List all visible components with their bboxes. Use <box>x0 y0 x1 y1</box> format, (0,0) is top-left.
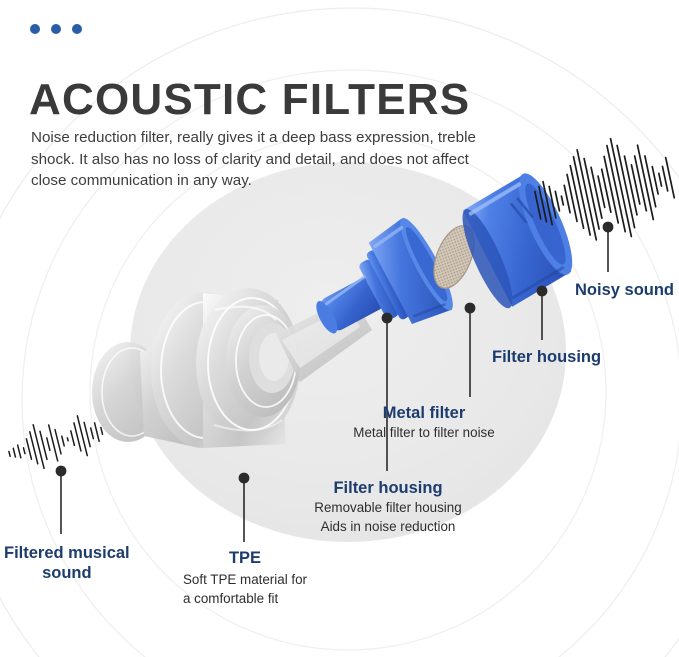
callout-filtered-musical-sound-title-line2: sound <box>4 563 130 583</box>
page-subtitle: Noise reduction filter, really gives it … <box>31 127 501 192</box>
callout-tpe-desc-line1: Soft TPE material for <box>183 571 307 589</box>
text-layer: ACOUSTIC FILTERS Noise reduction filter,… <box>0 0 679 657</box>
callout-metal-filter-desc: Metal filter to filter noise <box>353 424 494 442</box>
callout-filter-housing-center-desc-line1: Removable filter housing <box>314 499 461 517</box>
callout-filter-housing-center-desc-line2: Aids in noise reduction <box>314 518 461 536</box>
callout-metal-filter: Metal filter Metal filter to filter nois… <box>353 403 494 442</box>
callout-metal-filter-title: Metal filter <box>353 403 494 423</box>
dot-2 <box>51 24 61 34</box>
callout-filter-housing-center: Filter housing Removable filter housing … <box>314 478 461 536</box>
callout-tpe-desc-line2: a comfortable fit <box>183 590 307 608</box>
callout-filtered-musical-sound: Filtered musical sound <box>4 543 130 583</box>
callout-filtered-musical-sound-title-line1: Filtered musical <box>4 543 130 563</box>
dot-3 <box>72 24 82 34</box>
callout-filter-housing-right: Filter housing <box>492 347 601 367</box>
callout-filter-housing-right-title: Filter housing <box>492 347 601 367</box>
callout-noisy-sound: Noisy sound <box>575 280 674 300</box>
page-title: ACOUSTIC FILTERS <box>29 78 470 122</box>
callout-noisy-sound-title: Noisy sound <box>575 280 674 300</box>
callout-tpe-title: TPE <box>183 548 307 568</box>
callout-tpe: TPE Soft TPE material for a comfortable … <box>183 548 307 608</box>
decorative-dots <box>30 24 82 34</box>
callout-filter-housing-center-title: Filter housing <box>314 478 461 498</box>
dot-1 <box>30 24 40 34</box>
infographic-canvas: ACOUSTIC FILTERS Noise reduction filter,… <box>0 0 679 657</box>
